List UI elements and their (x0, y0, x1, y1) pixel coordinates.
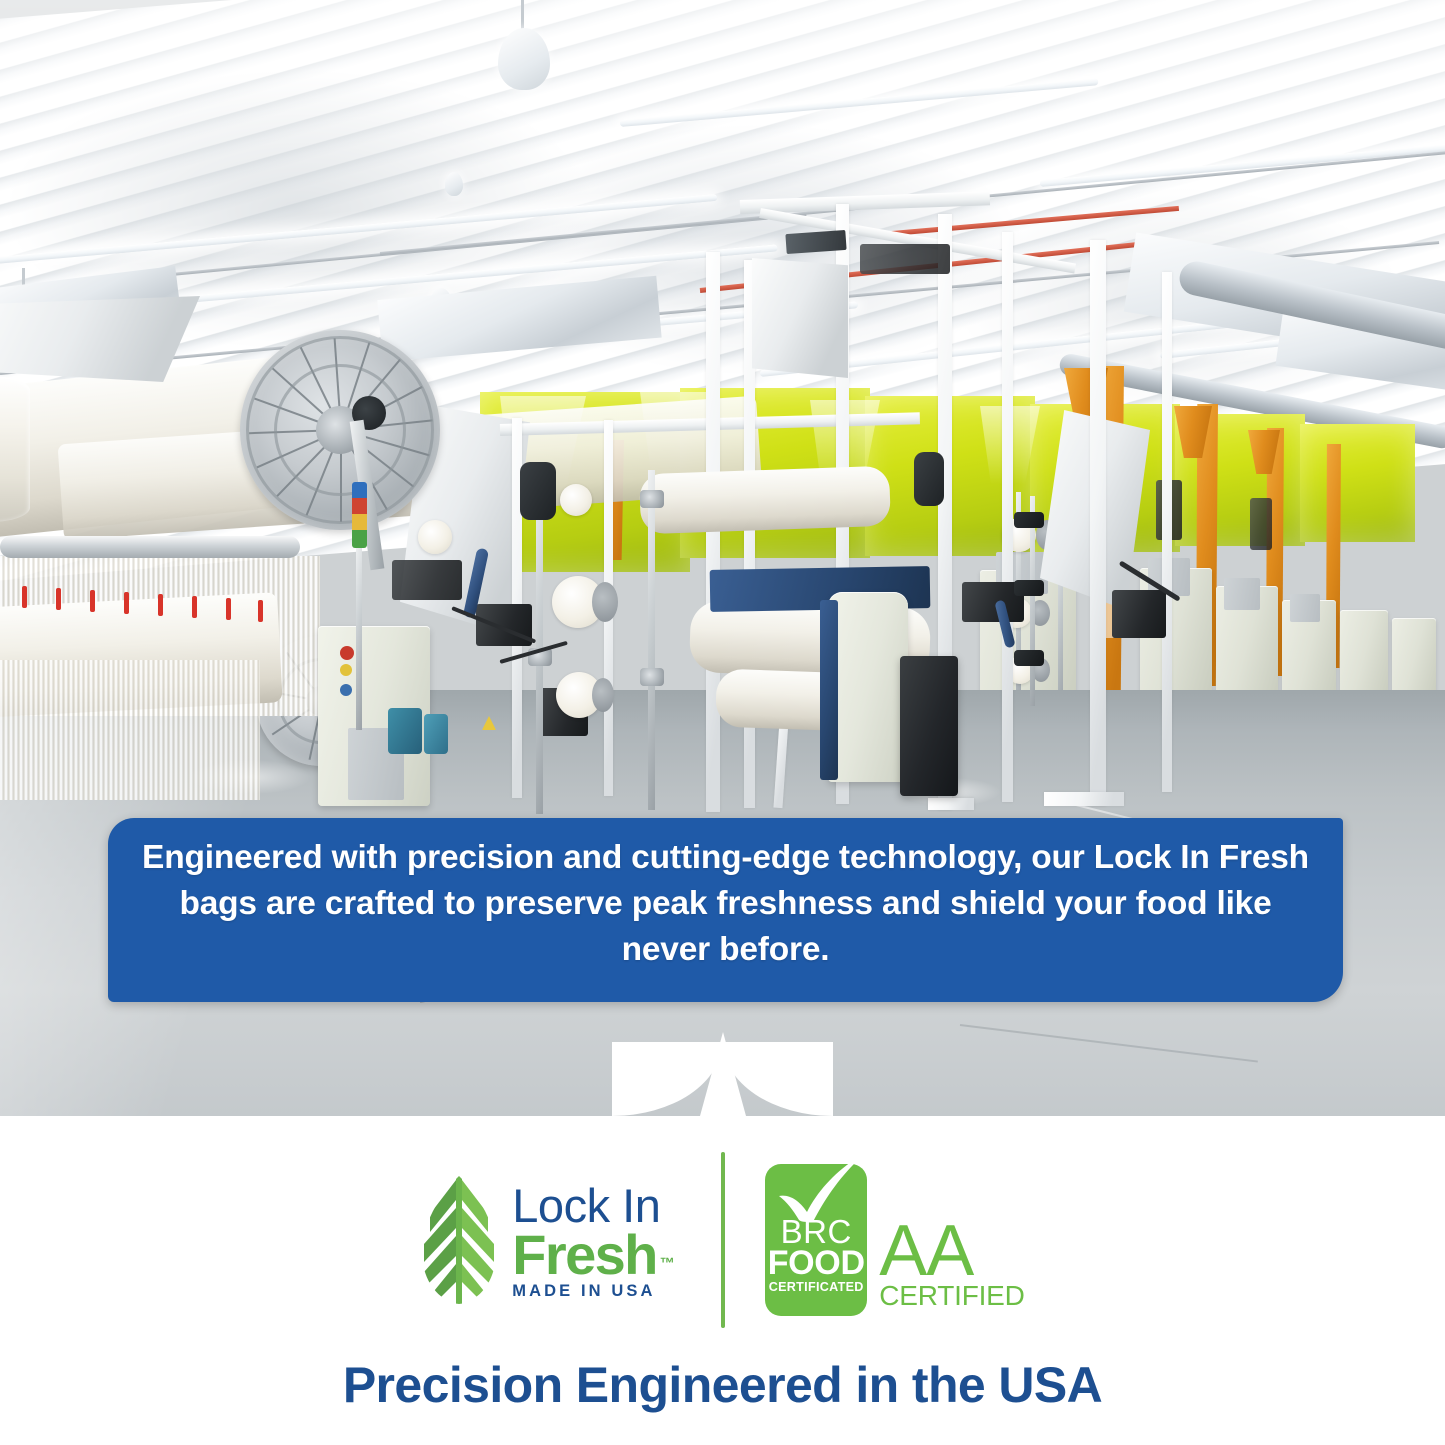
frame-post-base (928, 798, 974, 810)
suction-pipe (914, 452, 944, 506)
loom-mechanism (392, 560, 462, 600)
machine-dark-unit (1250, 498, 1272, 550)
warp-marker (226, 598, 231, 620)
spool-core (592, 678, 614, 712)
loom-blue-trim (820, 600, 838, 780)
warp-beam (0, 536, 300, 558)
warp-marker (56, 588, 61, 610)
footer-tagline: Precision Engineered in the USA (0, 1356, 1445, 1414)
frame-post (1002, 232, 1013, 802)
spool-post (648, 470, 655, 810)
message-banner: Engineered with precision and cutting-ed… (108, 818, 1343, 1002)
control-button-red (340, 646, 354, 660)
loom-mechanism (476, 604, 532, 646)
vertical-divider (721, 1152, 725, 1328)
logo-line-fresh: Fresh (512, 1229, 657, 1281)
banner-message: Engineered with precision and cutting-ed… (142, 835, 1309, 973)
suction-pipe (520, 462, 556, 520)
waste-bin (900, 656, 958, 796)
spool-disc (1014, 512, 1044, 528)
pendant-light (498, 28, 550, 90)
yarn-spool (418, 520, 452, 554)
warp-marker (258, 600, 263, 622)
warp-marker (192, 596, 197, 618)
rod-clamp (640, 490, 664, 508)
aa-grade: AA (879, 1222, 1024, 1281)
marketing-graphic: Engineered with precision and cutting-ed… (0, 0, 1445, 1445)
warp-marker (90, 590, 95, 612)
stack-light-green (352, 530, 367, 548)
control-button-blue (340, 684, 352, 696)
brc-green-tile: BRC FOOD CERTIFICATED (765, 1164, 867, 1316)
brc-certification-badge[interactable]: BRC FOOD CERTIFICATED AA CERTIFIED (765, 1164, 1024, 1316)
spool-disc (1014, 650, 1044, 666)
loom-mechanism (1112, 590, 1166, 638)
frame-post (1162, 272, 1172, 792)
stack-light (352, 482, 367, 548)
rod-clamp (640, 668, 664, 686)
aa-grade-block: AA CERTIFIED (879, 1222, 1024, 1316)
certificated-text: CERTIFICATED (769, 1280, 864, 1294)
fabric-roll-end (0, 376, 30, 522)
machine-cabinet (1392, 618, 1436, 698)
overhead-unit (860, 244, 950, 274)
machine-cabinet (1340, 610, 1388, 698)
trademark-symbol: ™ (660, 1255, 675, 1272)
spool-core-teal (424, 714, 448, 754)
machine-panel (1290, 594, 1320, 622)
logo-line-fresh-row: Fresh ™ (512, 1229, 675, 1281)
spool-core (592, 582, 618, 622)
yarn-spool (560, 484, 592, 516)
warp-marker (22, 586, 27, 608)
food-text: FOOD (768, 1247, 865, 1280)
guard-panel (752, 258, 848, 378)
stack-light-blue (352, 482, 367, 498)
stacklight-pole (356, 540, 362, 730)
warp-yarn-sheet (0, 660, 260, 800)
loom-side-cover (828, 592, 908, 782)
fabric-roll-mid (639, 466, 891, 535)
machine-panel (1224, 578, 1260, 610)
checkmark-icon (773, 1160, 869, 1226)
aa-certified-label: CERTIFIED (879, 1282, 1024, 1310)
warp-marker (124, 592, 129, 614)
warp-marker (158, 594, 163, 616)
control-button-yellow (340, 664, 352, 676)
pendant-light (445, 172, 463, 196)
stack-light-red (352, 498, 367, 514)
spool-disc (1014, 580, 1044, 596)
badge-row: Lock In Fresh ™ MADE IN USA BRC FO (0, 1152, 1445, 1328)
logo-wordmark: Lock In Fresh ™ MADE IN USA (512, 1179, 675, 1301)
frame-post-base (1044, 792, 1124, 806)
stack-light-yellow (352, 514, 367, 530)
overhead-panel (785, 230, 846, 254)
lock-in-fresh-logo[interactable]: Lock In Fresh ™ MADE IN USA (420, 1174, 675, 1306)
leaf-icon (420, 1174, 498, 1306)
spool-core-teal (388, 708, 422, 754)
frame-post (1090, 240, 1106, 806)
logo-made-in-usa: MADE IN USA (512, 1282, 675, 1301)
warp-beam-wheel (240, 330, 440, 530)
fabric-roll (1300, 424, 1415, 542)
